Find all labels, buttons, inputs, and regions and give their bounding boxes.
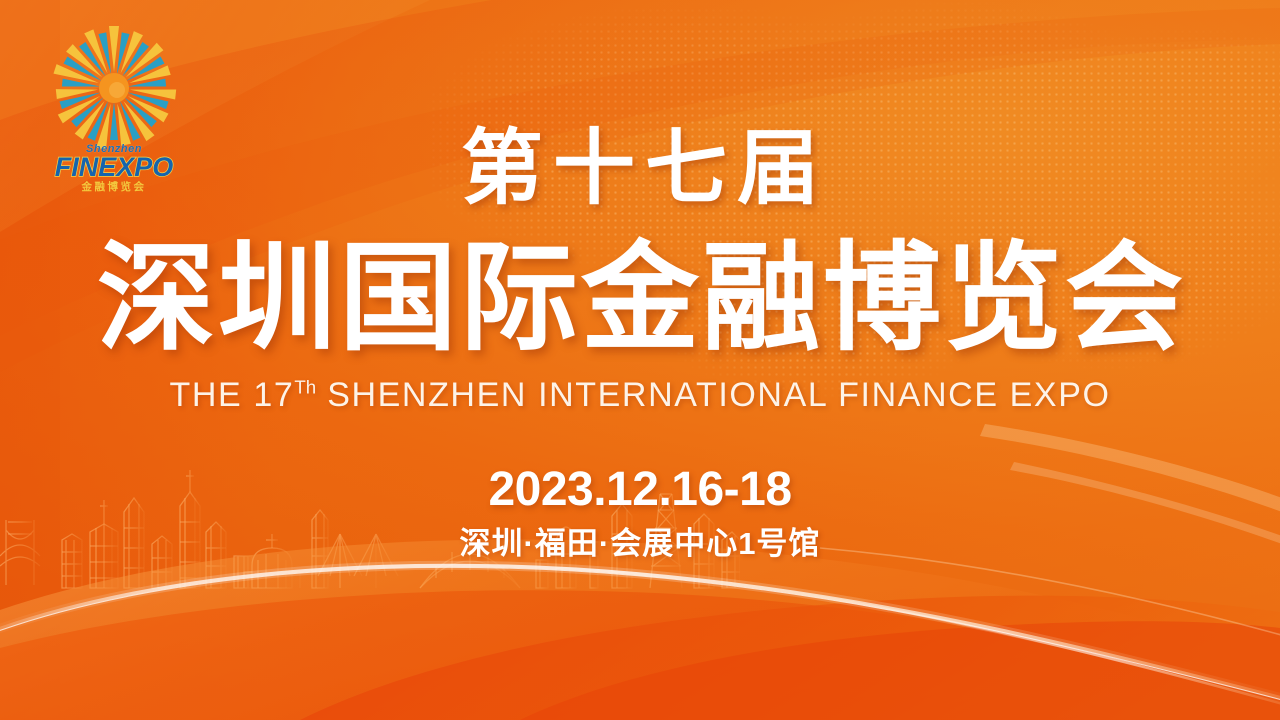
sunburst-icon (40, 22, 188, 150)
logo-wordmark: Shenzhen FINEXPO 金融博览会 (34, 144, 194, 193)
expo-poster: Shenzhen FINEXPO 金融博览会 第十七届 深圳国际金融博览会 TH… (0, 0, 1280, 720)
finexpo-logo[interactable]: Shenzhen FINEXPO 金融博览会 (34, 22, 194, 192)
logo-brand-label: FINEXPO (34, 154, 194, 181)
logo-brand-cn-label: 金融博览会 (34, 182, 194, 193)
